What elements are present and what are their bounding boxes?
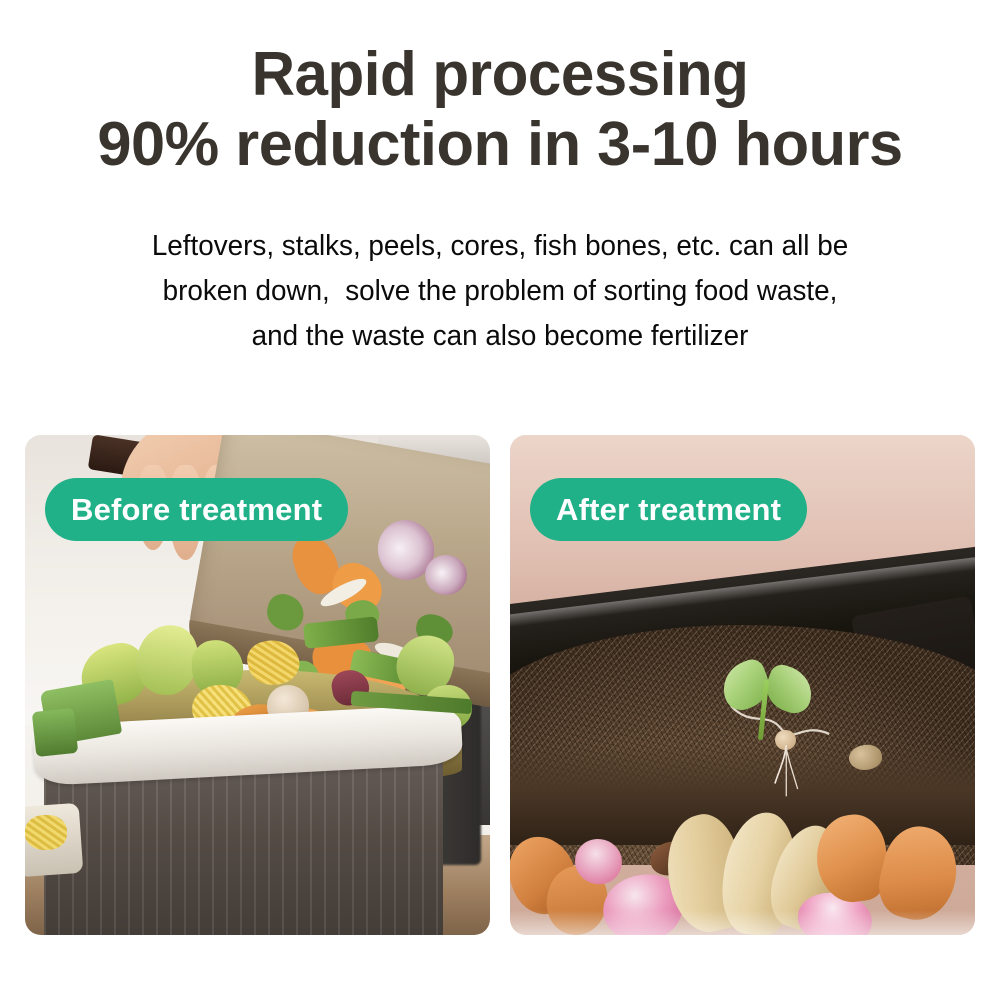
headline-line-1: Rapid processing [15, 40, 985, 110]
side-corn-cob [25, 815, 67, 850]
bottom-fade [510, 910, 975, 935]
before-treatment-badge-label: Before treatment [71, 492, 322, 527]
description-line-3: and the waste can also become fertilizer [78, 314, 923, 359]
description-block: Leftovers, stalks, peels, cores, fish bo… [60, 224, 940, 359]
after-treatment-badge: After treatment [530, 478, 807, 541]
description-line-1: Leftovers, stalks, peels, cores, fish bo… [78, 224, 923, 269]
headline-line-2: 90% reduction in 3-10 hours [5, 110, 995, 180]
headline-block: Rapid processing 90% reduction in 3-10 h… [0, 40, 1000, 180]
after-treatment-photo: After treatment [510, 435, 975, 935]
before-treatment-badge: Before treatment [45, 478, 348, 541]
compost-bin-handle-clip [32, 708, 78, 757]
before-after-comparison: Before treatment [25, 435, 975, 935]
red-onion-slice [425, 555, 467, 595]
after-treatment-badge-label: After treatment [556, 492, 781, 527]
product-feature-page: Rapid processing 90% reduction in 3-10 h… [0, 0, 1000, 1000]
before-treatment-photo: Before treatment [25, 435, 490, 935]
description-line-2: broken down, solve the problem of sortin… [78, 269, 923, 314]
